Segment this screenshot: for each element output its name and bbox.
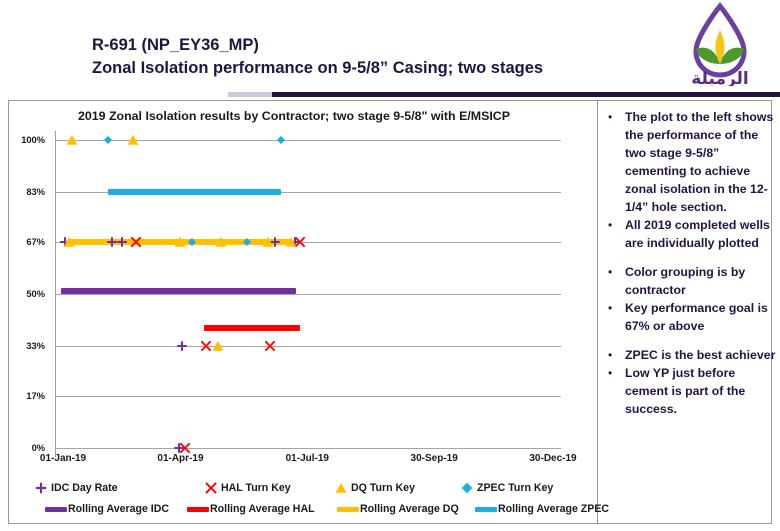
legend-item-marker[interactable]: HAL Turn Key — [205, 482, 291, 494]
rolling-average-line — [61, 288, 297, 294]
legend-label: ZPEC Turn Key — [477, 482, 553, 494]
legend-label: Rolling Average IDC — [68, 503, 169, 515]
slide-header: R-691 (NP_EY36_MP) Zonal Isolation perfo… — [0, 0, 780, 100]
legend-item-line[interactable]: Rolling Average ZPEC — [475, 503, 609, 515]
data-point-marker — [63, 236, 75, 248]
x-axis-tick-label: 01-Jan-19 — [40, 453, 86, 464]
legend-item-marker[interactable]: DQ Turn Key — [335, 482, 415, 494]
data-point-marker — [285, 236, 297, 248]
y-axis-tick-label: 17% — [1, 391, 45, 401]
y-axis-tick-label: 33% — [1, 341, 45, 351]
data-point-marker — [262, 236, 274, 248]
legend-item-marker[interactable]: ZPEC Turn Key — [461, 482, 553, 494]
data-point-marker — [116, 236, 127, 247]
note-bullet-text: Low YP just before cement is part of the… — [625, 366, 745, 416]
plus-marker — [35, 482, 47, 494]
bullet-spacer — [604, 335, 780, 346]
x-axis-tick-label: 30-Dec-19 — [529, 453, 576, 464]
y-axis-tick-label: 50% — [1, 289, 45, 299]
note-bullet: •Key performance goal is 67% or above — [604, 299, 780, 335]
panel-divider — [597, 101, 598, 523]
title-underline-left-fade — [228, 92, 272, 97]
gridline — [55, 294, 561, 295]
legend-line-swatch — [475, 507, 497, 512]
data-point-marker — [103, 136, 112, 145]
legend-line-swatch — [187, 507, 209, 512]
triangle-marker — [335, 482, 347, 494]
page-title-line2: Zonal Isolation performance on 9-5/8” Ca… — [92, 57, 652, 80]
plot-area — [55, 140, 561, 448]
y-axis-tick-label: 0% — [1, 443, 45, 453]
note-bullet: •ZPEC is the best achiever — [604, 346, 780, 364]
legend-row-lines: Rolling Average IDCRolling Average HALRo… — [9, 503, 597, 523]
data-point-marker — [187, 237, 196, 246]
chart-legend: IDC Day RateHAL Turn KeyDQ Turn KeyZPEC … — [9, 482, 597, 528]
x-axis-tick-label: 30-Sep-19 — [411, 453, 458, 464]
legend-item-line[interactable]: Rolling Average IDC — [45, 503, 169, 515]
data-point-marker — [200, 341, 211, 352]
legend-label: DQ Turn Key — [351, 482, 415, 494]
rolling-average-line — [204, 325, 300, 331]
x-axis-tick-label: 01-Jul-19 — [286, 453, 329, 464]
note-bullet-text: The plot to the left shows the performan… — [625, 110, 773, 214]
data-point-marker — [212, 340, 224, 352]
x-axis-tick-labels: 01-Jan-1901-Apr-1901-Jul-1930-Sep-1930-D… — [9, 453, 597, 471]
rumaila-logo: الرميلة — [674, 2, 766, 86]
data-point-marker — [174, 236, 186, 248]
svg-text:الرميلة: الرميلة — [691, 69, 749, 86]
gridline — [55, 396, 561, 397]
diamond-marker — [461, 482, 473, 494]
gridline — [55, 448, 561, 449]
legend-label: IDC Day Rate — [51, 482, 118, 494]
title-underline-right — [348, 92, 780, 97]
note-bullet: •The plot to the left shows the performa… — [604, 108, 780, 216]
legend-row-markers: IDC Day RateHAL Turn KeyDQ Turn KeyZPEC … — [9, 482, 597, 502]
legend-item-marker[interactable]: IDC Day Rate — [35, 482, 118, 494]
legend-line-swatch — [45, 507, 67, 512]
legend-label: Rolling Average DQ — [360, 503, 459, 515]
note-bullet: •Low YP just before cement is part of th… — [604, 364, 780, 418]
data-point-marker — [264, 341, 275, 352]
data-point-marker — [215, 236, 227, 248]
data-point-marker — [130, 236, 141, 247]
bullet-dot-icon: • — [608, 301, 612, 316]
bullet-dot-icon: • — [608, 265, 612, 280]
legend-label: HAL Turn Key — [221, 482, 291, 494]
data-point-marker — [243, 237, 252, 246]
chart-panel: 2019 Zonal Isolation results by Contract… — [9, 101, 597, 523]
notes-panel: •The plot to the left shows the performa… — [604, 108, 780, 518]
data-point-marker — [127, 134, 139, 146]
y-axis-tick-label: 67% — [1, 237, 45, 247]
data-point-marker — [179, 443, 190, 454]
bullet-dot-icon: • — [608, 366, 612, 381]
x-axis-tick-label: 01-Apr-19 — [157, 453, 203, 464]
legend-item-line[interactable]: Rolling Average HAL — [187, 503, 315, 515]
note-bullet-text: ZPEC is the best achiever — [625, 348, 775, 362]
legend-line-swatch — [337, 507, 359, 512]
gridline — [55, 346, 561, 347]
legend-label: Rolling Average HAL — [210, 503, 315, 515]
rolling-average-line — [108, 189, 281, 195]
legend-item-line[interactable]: Rolling Average DQ — [337, 503, 459, 515]
bullet-dot-icon: • — [608, 218, 612, 233]
note-bullet: •All 2019 completed wells are individual… — [604, 216, 780, 252]
page-title-line1: R-691 (NP_EY36_MP) — [92, 34, 652, 57]
bullet-spacer — [604, 252, 780, 263]
chart-title: 2019 Zonal Isolation results by Contract… — [9, 109, 579, 123]
bullet-dot-icon: • — [608, 110, 612, 125]
page-title: R-691 (NP_EY36_MP) Zonal Isolation perfo… — [92, 34, 652, 81]
cross-marker — [205, 482, 217, 494]
note-bullet-text: Key performance goal is 67% or above — [625, 301, 768, 333]
note-bullet-text: All 2019 completed wells are individuall… — [625, 218, 770, 250]
data-point-marker — [276, 136, 285, 145]
note-bullet-text: Color grouping is by contractor — [625, 265, 745, 297]
data-point-marker — [66, 134, 78, 146]
bullet-dot-icon: • — [608, 348, 612, 363]
data-point-marker — [176, 341, 187, 352]
legend-label: Rolling Average ZPEC — [498, 503, 609, 515]
note-bullet: •Color grouping is by contractor — [604, 263, 780, 299]
y-axis-tick-label: 83% — [1, 187, 45, 197]
y-axis-tick-label: 100% — [1, 135, 45, 145]
